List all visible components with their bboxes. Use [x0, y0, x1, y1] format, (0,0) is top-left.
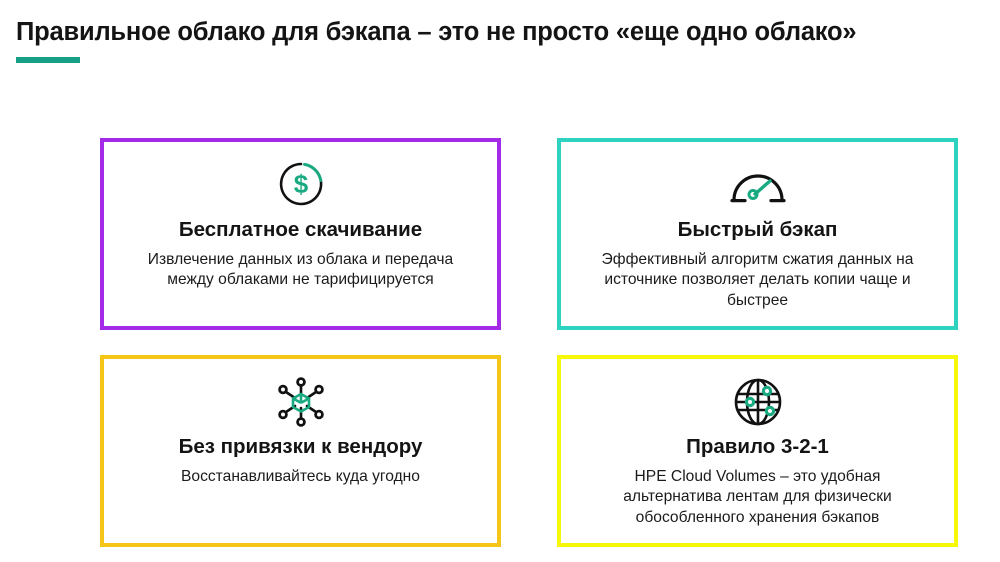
feature-card-rule-321[interactable]: Правило 3-2-1 HPE Cloud Volumes – это уд…	[557, 355, 958, 547]
card-title: Бесплатное скачивание	[179, 218, 422, 243]
dollar-circle-icon: $	[275, 156, 327, 212]
page-title: Правильное облако для бэкапа – это не пр…	[0, 0, 1000, 47]
card-body: Извлечение данных из облака и передача м…	[131, 250, 471, 291]
card-title: Правило 3-2-1	[686, 435, 829, 460]
speedometer-icon	[729, 156, 787, 212]
network-hub-icon	[272, 373, 330, 431]
feature-card-no-vendor-lock[interactable]: Без привязки к вендору Восстанавливайтес…	[100, 355, 501, 547]
feature-card-grid: $ Бесплатное скачивание Извлечение данны…	[100, 138, 958, 547]
title-accent-bar	[16, 57, 80, 63]
card-title: Без привязки к вендору	[179, 435, 423, 460]
feature-card-fast-backup[interactable]: Быстрый бэкап Эффективный алгоритм сжати…	[557, 138, 958, 330]
card-body: HPE Cloud Volumes – это удобная альтерна…	[588, 467, 928, 529]
card-body: Эффективный алгоритм сжатия данных на ис…	[588, 250, 928, 312]
page-header: Правильное облако для бэкапа – это не пр…	[0, 0, 1000, 47]
globe-icon	[730, 373, 786, 431]
feature-card-free-download[interactable]: $ Бесплатное скачивание Извлечение данны…	[100, 138, 501, 330]
card-title: Быстрый бэкап	[678, 218, 838, 243]
svg-text:$: $	[293, 169, 308, 199]
card-body: Восстанавливайтесь куда угодно	[181, 467, 420, 488]
